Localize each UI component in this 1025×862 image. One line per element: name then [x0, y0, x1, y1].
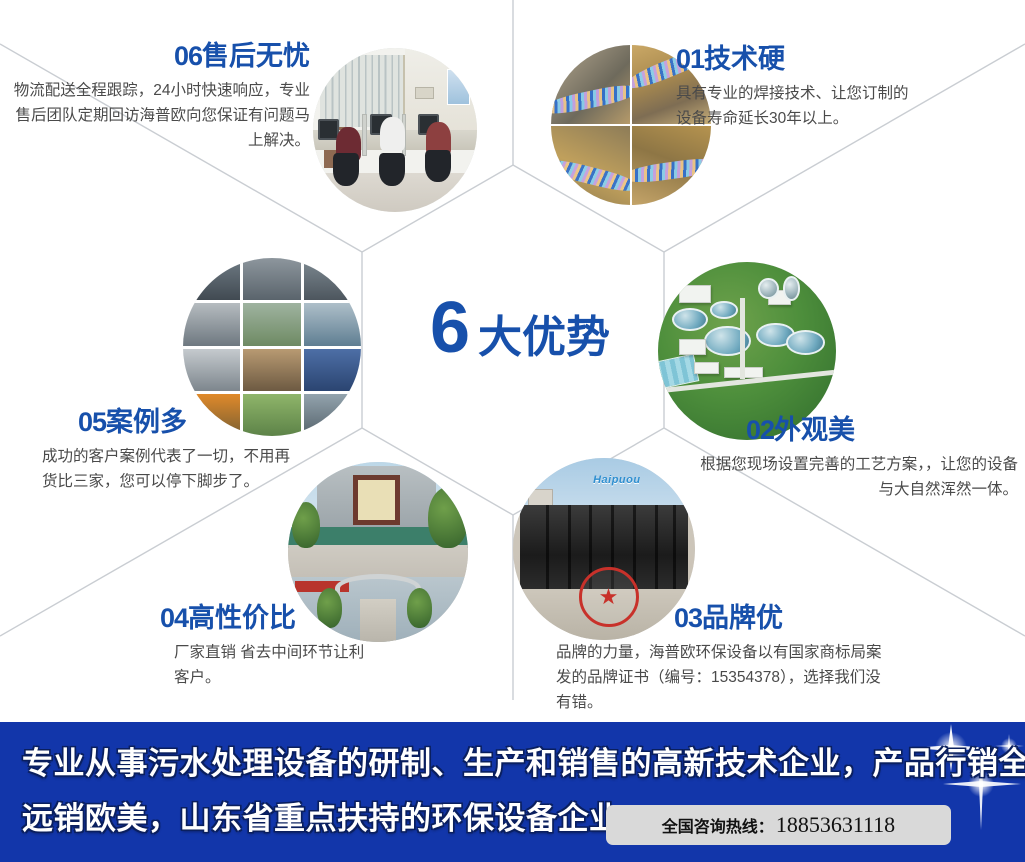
center-text: 大优势: [478, 316, 610, 360]
feature-02-photo: [658, 262, 836, 440]
hotline-box[interactable]: 全国咨询热线： 18853631118: [606, 805, 951, 845]
feature-01-body: 具有专业的焊接技术、让您订制的设备寿命延长30年以上。: [676, 81, 921, 131]
feature-02: 02外观美 根据您现场设置完善的工艺方案，，让您的设备与大自然浑然一体。: [700, 416, 1018, 502]
feature-04-body: 厂家直销 省去中间环节让利客户。: [160, 640, 375, 690]
tank-brand-logo: Haipuou: [593, 474, 666, 492]
center-label: 6 大优势: [400, 292, 640, 372]
feature-03-title: 品牌优: [702, 603, 783, 633]
feature-02-heading: 02外观美: [700, 416, 1018, 446]
feature-04-heading: 04高性价比: [160, 604, 480, 634]
feature-05-body: 成功的客户案例代表了一切，不用再货比三家，您可以停下脚步了。: [42, 444, 292, 494]
feature-03-code: 03: [674, 603, 702, 633]
feature-02-body: 根据您现场设置完善的工艺方案，，让您的设备与大自然浑然一体。: [700, 452, 1018, 502]
feature-02-code: 02: [746, 415, 774, 445]
feature-01: 01技术硬 具有专业的焊接技术、让您订制的设备寿命延长30年以上。: [676, 45, 996, 131]
center-number: 6: [430, 292, 468, 364]
feature-03-heading: 03品牌优: [556, 604, 1025, 634]
hotline-number: 18853631118: [776, 812, 895, 838]
feature-01-title: 技术硬: [704, 44, 785, 74]
feature-03: 03品牌优 品牌的力量，海普欧环保设备以有国家商标局案发的品牌证书（编号：153…: [556, 604, 1025, 715]
feature-05-title: 案例多: [106, 407, 187, 437]
feature-06-code: 06: [174, 41, 202, 71]
feature-05-code: 05: [78, 407, 106, 437]
banner-line-1: 专业从事污水处理设备的研制、生产和销售的高新技术企业，产品行销全国并: [22, 744, 999, 785]
hotline-label: 全国咨询热线：: [662, 813, 774, 837]
feature-01-code: 01: [676, 44, 704, 74]
feature-06-title: 售后无忧: [202, 41, 310, 71]
feature-01-heading: 01技术硬: [676, 45, 996, 75]
feature-06-body: 物流配送全程跟踪，24小时快速响应，专业售后团队定期回访海普欧向您保证有问题马上…: [10, 78, 310, 153]
feature-03-body: 品牌的力量，海普欧环保设备以有国家商标局案发的品牌证书（编号：15354378）…: [556, 640, 894, 715]
feature-06: 06售后无忧 物流配送全程跟踪，24小时快速响应，专业售后团队定期回访海普欧向您…: [10, 42, 310, 153]
feature-04-code: 04: [160, 603, 188, 633]
feature-04-title: 高性价比: [188, 603, 296, 633]
feature-05-heading: 05案例多: [42, 408, 342, 438]
feature-02-title: 外观美: [774, 415, 855, 445]
feature-06-heading: 06售后无忧: [10, 42, 310, 72]
feature-04: 04高性价比 厂家直销 省去中间环节让利客户。: [160, 604, 480, 690]
infographic-page: 6 大优势 06售后无忧 物流配送全程跟踪，24小时快速响应，专业售后团队定期回…: [0, 0, 1025, 862]
feature-06-photo: [313, 48, 477, 212]
